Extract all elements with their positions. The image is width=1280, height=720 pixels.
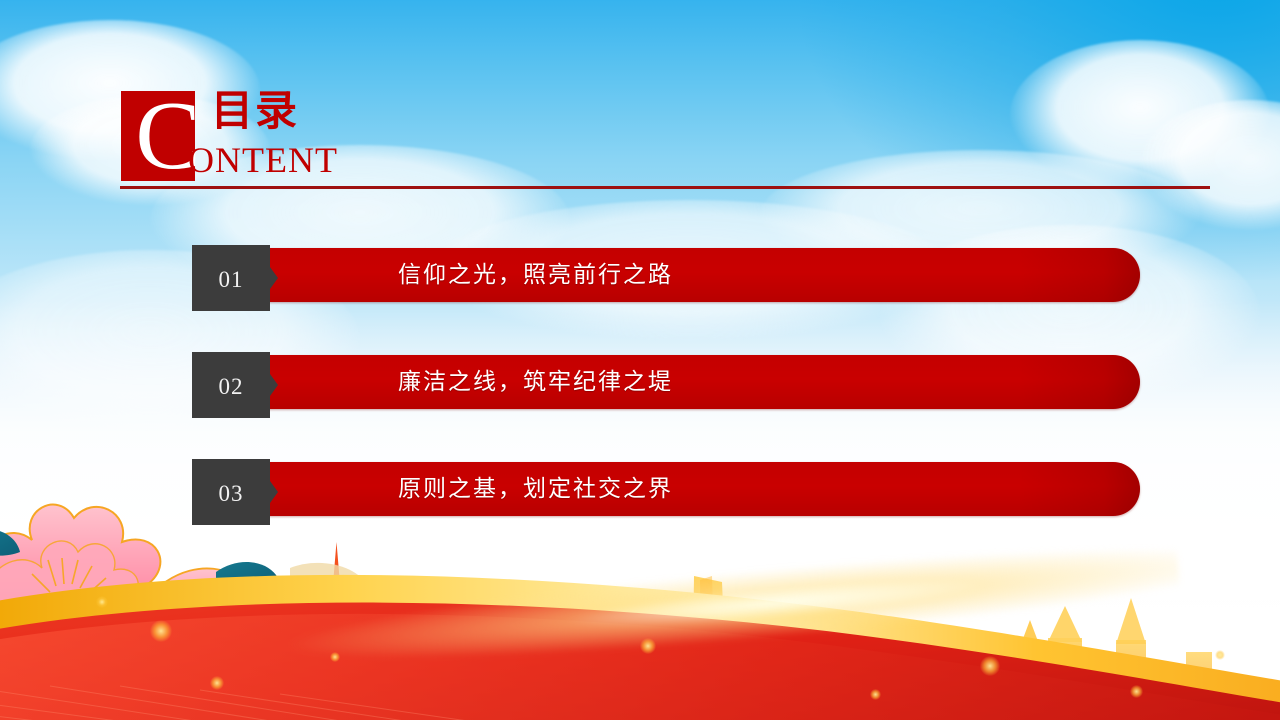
light-particle [980, 656, 1000, 676]
light-particle [210, 676, 224, 690]
contents-bar[interactable]: 廉洁之线，筑牢纪律之堤 [268, 355, 1140, 409]
contents-item-label: 廉洁之线，筑牢纪律之堤 [398, 355, 673, 409]
contents-bar[interactable]: 信仰之光，照亮前行之路 [268, 248, 1140, 302]
light-particle [1215, 650, 1225, 660]
contents-item-label: 信仰之光，照亮前行之路 [398, 248, 673, 302]
light-particle [640, 638, 656, 654]
contents-number-box: 01 [192, 245, 278, 311]
light-particle [330, 652, 340, 662]
light-particle [870, 689, 881, 700]
slide: C 目录 ONTENT 信仰之光，照亮前行之路 01 廉洁之线，筑牢纪律之堤 0… [0, 0, 1280, 720]
contents-number: 02 [192, 352, 270, 418]
list-item[interactable]: 信仰之光，照亮前行之路 01 [192, 245, 1140, 311]
bottom-decoration [0, 480, 1280, 720]
list-item[interactable]: 廉洁之线，筑牢纪律之堤 02 [192, 352, 1140, 418]
light-particle [150, 620, 172, 642]
contents-number: 01 [192, 245, 270, 311]
contents-number-box: 02 [192, 352, 278, 418]
light-particle [96, 596, 108, 608]
light-particle [1130, 685, 1143, 698]
